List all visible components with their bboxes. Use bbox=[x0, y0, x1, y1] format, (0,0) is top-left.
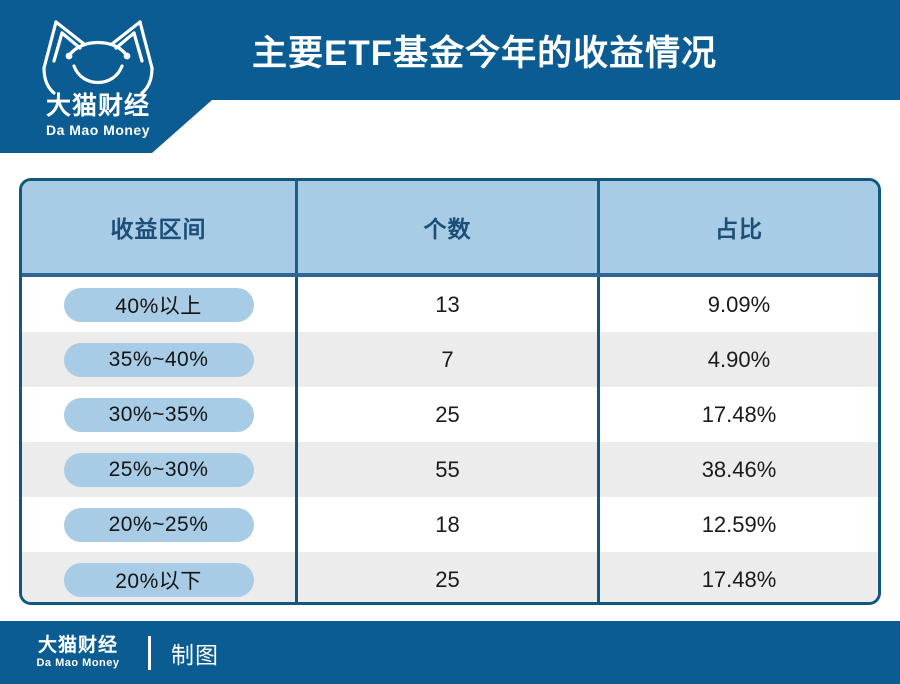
cell-range: 35%~40% bbox=[22, 332, 298, 387]
footer-brand-cn: 大猫财经 bbox=[22, 636, 134, 655]
cell-share: 4.90% bbox=[600, 332, 878, 387]
cat-face-icon bbox=[22, 6, 174, 96]
cell-count: 25 bbox=[298, 387, 600, 442]
table-row: 40%以上 13 9.09% bbox=[22, 277, 878, 332]
brand-name-cn: 大猫财经 bbox=[22, 94, 174, 119]
footer-note: 制图 bbox=[171, 636, 219, 670]
cell-count: 13 bbox=[298, 277, 600, 332]
range-pill: 35%~40% bbox=[64, 343, 254, 377]
range-pill: 20%~25% bbox=[64, 508, 254, 542]
footer-divider bbox=[148, 636, 151, 670]
range-pill: 30%~35% bbox=[64, 398, 254, 432]
cell-share: 12.59% bbox=[600, 497, 878, 552]
footer-brand: 大猫财经 Da Mao Money bbox=[22, 636, 134, 669]
cell-range: 25%~30% bbox=[22, 442, 298, 497]
table-row: 20%~25% 18 12.59% bbox=[22, 497, 878, 552]
table-header-row: 收益区间 个数 占比 bbox=[22, 181, 878, 277]
footer-brand-en: Da Mao Money bbox=[22, 658, 134, 669]
cell-range: 20%~25% bbox=[22, 497, 298, 552]
cell-count: 25 bbox=[298, 552, 600, 605]
brand-logo: 大猫财经 Da Mao Money bbox=[22, 6, 174, 148]
table-row: 35%~40% 7 4.90% bbox=[22, 332, 878, 387]
page-title: 主要ETF基金今年的收益情况 bbox=[252, 0, 717, 100]
cell-share: 38.46% bbox=[600, 442, 878, 497]
column-header-count: 个数 bbox=[298, 181, 600, 273]
range-pill: 25%~30% bbox=[64, 453, 254, 487]
cell-range: 40%以上 bbox=[22, 277, 298, 332]
table-row: 30%~35% 25 17.48% bbox=[22, 387, 878, 442]
cell-count: 18 bbox=[298, 497, 600, 552]
cell-count: 55 bbox=[298, 442, 600, 497]
column-header-share: 占比 bbox=[600, 181, 878, 273]
cell-share: 17.48% bbox=[600, 387, 878, 442]
cell-count: 7 bbox=[298, 332, 600, 387]
range-pill: 20%以下 bbox=[64, 563, 254, 597]
cell-range: 20%以下 bbox=[22, 552, 298, 605]
range-pill: 40%以上 bbox=[64, 288, 254, 322]
cell-share: 17.48% bbox=[600, 552, 878, 605]
table-row: 20%以下 25 17.48% bbox=[22, 552, 878, 605]
column-header-range: 收益区间 bbox=[22, 181, 298, 273]
brand-name-en: Da Mao Money bbox=[22, 123, 174, 137]
cell-share: 9.09% bbox=[600, 277, 878, 332]
cell-range: 30%~35% bbox=[22, 387, 298, 442]
footer-bar: 大猫财经 Da Mao Money 制图 bbox=[0, 621, 900, 684]
table-row: 25%~30% 55 38.46% bbox=[22, 442, 878, 497]
data-table: 收益区间 个数 占比 40%以上 13 9.09% 35%~40% 7 4.90… bbox=[19, 178, 881, 605]
